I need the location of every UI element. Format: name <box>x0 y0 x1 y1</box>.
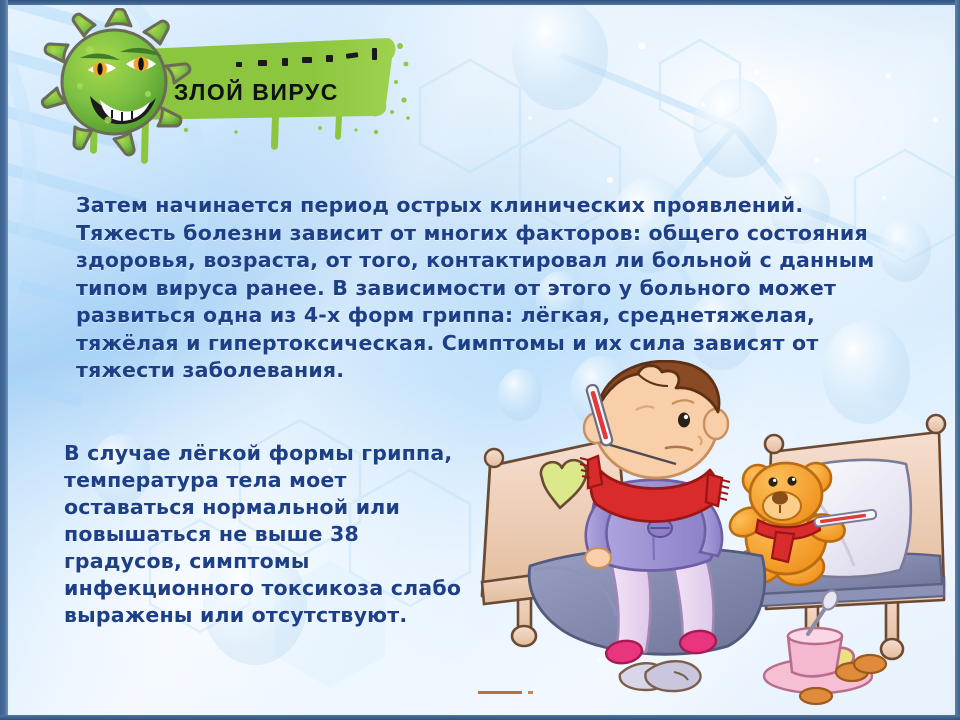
floor-slippers <box>620 661 701 691</box>
paragraph-line: повышаться не выше 38 <box>64 521 484 548</box>
paragraph-line: здоровья, возраста, от того, контактиров… <box>76 247 916 275</box>
virus-logo-banner: Я ЗЛОЙ ВИРУС <box>36 8 416 168</box>
stray-line-artifact <box>478 691 522 694</box>
main-paragraph: Затем начинается период острых клиническ… <box>76 192 916 385</box>
paragraph-line: выражены или отсутствуют. <box>64 602 484 629</box>
paragraph-line: тяжёлая и гипертоксическая. Симптомы и и… <box>76 330 916 358</box>
paragraph-line: В случае лёгкой формы гриппа, <box>64 440 484 467</box>
paragraph-line: Тяжесть болезни зависит от многих фактор… <box>76 220 916 248</box>
paragraph-line: оставаться нормальной или <box>64 494 484 521</box>
paragraph-line: инфекционного токсикоза слабо <box>64 575 484 602</box>
stray-dot-artifact <box>528 691 533 694</box>
mild-form-paragraph: В случае лёгкой формы гриппа, температур… <box>64 440 484 629</box>
paragraph-line: температура тела моет <box>64 467 484 494</box>
paragraph-line: типом вируса ранее. В зависимости от это… <box>76 275 916 303</box>
paragraph-line: градусов, симптомы <box>64 548 484 575</box>
paragraph-line: развиться одна из 4-х форм гриппа: лёгка… <box>76 302 916 330</box>
sick-boy-in-bed-illustration <box>470 360 960 710</box>
slide-root: Я ЗЛОЙ ВИРУС <box>0 0 960 720</box>
paragraph-line: Затем начинается период острых клиническ… <box>76 192 916 220</box>
